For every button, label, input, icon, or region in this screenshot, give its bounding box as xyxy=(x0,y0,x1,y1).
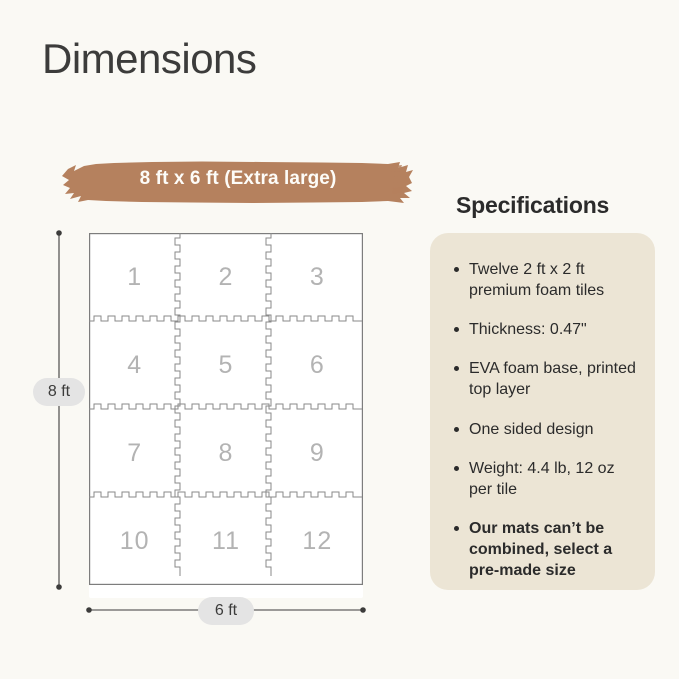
mat-tile-grid: 1 2 3 4 5 6 7 8 9 10 11 12 xyxy=(89,233,363,585)
spec-list-item: Twelve 2 ft x 2 ft premium foam tiles xyxy=(452,259,637,301)
tile-number: 10 xyxy=(89,497,180,585)
tile-number: 3 xyxy=(272,233,363,321)
specifications-heading: Specifications xyxy=(456,192,609,219)
spec-list-item: One sided design xyxy=(452,419,637,440)
page-title: Dimensions xyxy=(42,38,256,80)
height-dimension-label: 8 ft xyxy=(33,378,85,406)
tile-number: 7 xyxy=(89,409,180,497)
spec-list-item: EVA foam base, printed top layer xyxy=(452,358,637,400)
tile-number: 4 xyxy=(89,321,180,409)
spec-list-item-highlight: Our mats can’t be combined, select a pre… xyxy=(452,518,637,581)
tile-number: 2 xyxy=(180,233,271,321)
specifications-list: Twelve 2 ft x 2 ft premium foam tiles Th… xyxy=(452,259,637,581)
tile-number: 5 xyxy=(180,321,271,409)
spec-list-item: Thickness: 0.47" xyxy=(452,319,637,340)
tile-number: 8 xyxy=(180,409,271,497)
tile-number: 9 xyxy=(272,409,363,497)
dimensions-infographic: Dimensions 8 ft x 6 ft (Extra large) 8 f… xyxy=(0,0,679,679)
tile-number: 11 xyxy=(180,497,271,585)
spec-list-item: Weight: 4.4 lb, 12 oz per tile xyxy=(452,458,637,500)
tile-number: 6 xyxy=(272,321,363,409)
vertical-dimension-line xyxy=(46,228,72,592)
size-banner-label: 8 ft x 6 ft (Extra large) xyxy=(62,168,414,190)
size-banner: 8 ft x 6 ft (Extra large) xyxy=(62,155,414,209)
tile-number: 12 xyxy=(272,497,363,585)
specifications-card: Twelve 2 ft x 2 ft premium foam tiles Th… xyxy=(430,233,655,590)
width-dimension-label: 6 ft xyxy=(198,597,254,625)
tile-number: 1 xyxy=(89,233,180,321)
